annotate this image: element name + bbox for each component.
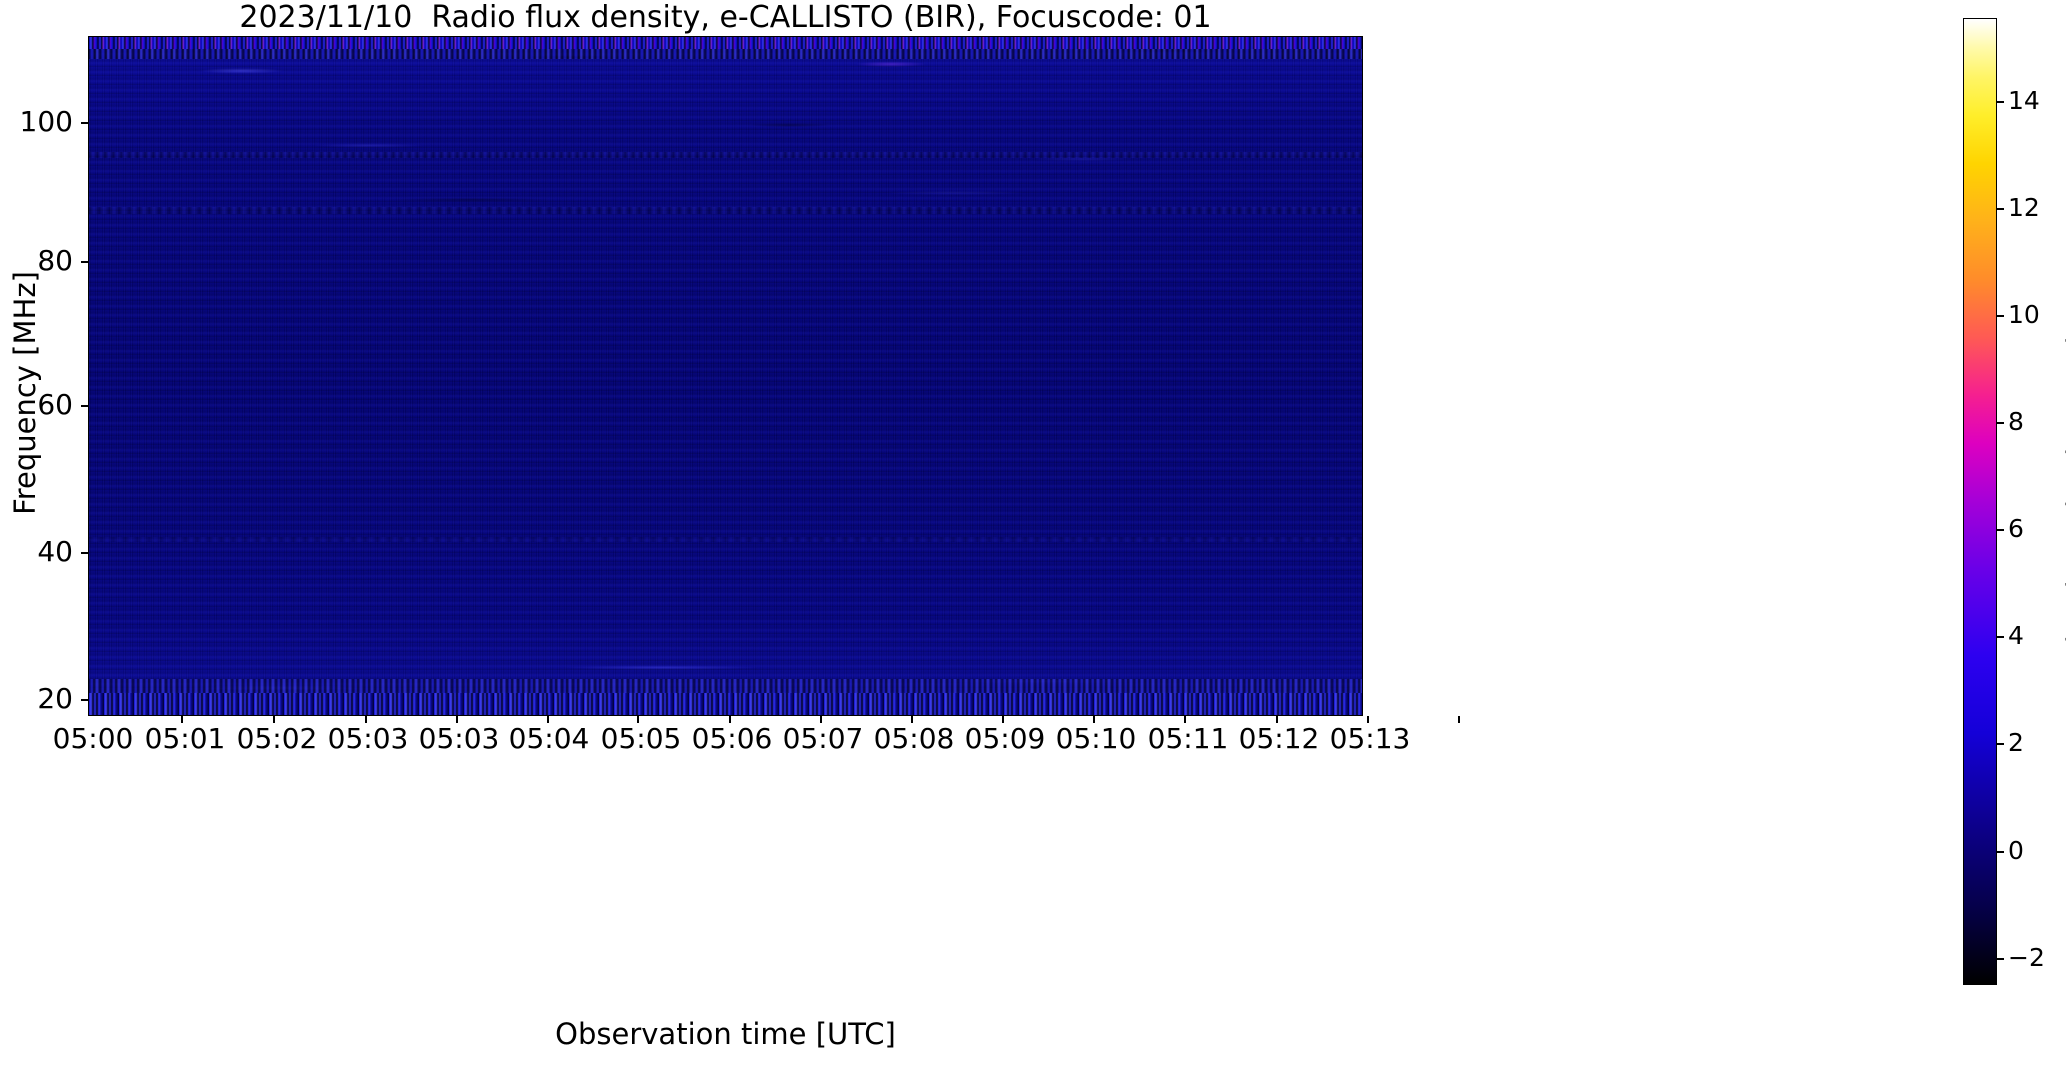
colorbar-tick-label: 14 [2008, 86, 2040, 115]
colorbar-label: dB above background [2061, 325, 2066, 665]
colorbar-tick-label: 2 [2008, 728, 2024, 757]
colorbar-tick-label: 0 [2008, 836, 2024, 865]
x-tick-label: 05:12 [1239, 722, 1320, 755]
x-tick-label: 05:06 [692, 722, 773, 755]
spectrogram-band-55mhz [89, 537, 1362, 542]
spectrogram-plot-area [88, 36, 1363, 716]
x-tick-label: 05:10 [1056, 722, 1137, 755]
colorbar-tick-mark [1997, 101, 2004, 103]
y-tick-label: 100 [0, 105, 73, 138]
colorbar-tick-mark [1997, 529, 2004, 531]
colorbar-tick-label: −2 [2008, 943, 2045, 972]
y-tick-mark [81, 699, 88, 701]
x-tick-label: 05:03 [328, 722, 409, 755]
x-tick-label: 05:09 [965, 722, 1046, 755]
y-tick-label: 40 [0, 535, 73, 568]
y-tick-mark [81, 405, 88, 407]
spectrogram-band-90mhz [89, 152, 1362, 158]
x-tick-label: 05:11 [1148, 722, 1229, 755]
colorbar-tick-mark [1997, 636, 2004, 638]
colorbar-tick-mark [1997, 208, 2004, 210]
x-tick-label: 05:02 [237, 722, 318, 755]
colorbar-tick-mark [1997, 422, 2004, 424]
colorbar-tick-label: 8 [2008, 407, 2024, 436]
spectrogram-band-102mhz [89, 49, 1362, 59]
x-tick-label: 05:08 [874, 722, 955, 755]
colorbar-tick-label: 10 [2008, 300, 2040, 329]
y-tick-label: 20 [0, 682, 73, 715]
x-tick-label: 05:13 [1330, 722, 1411, 755]
page-title: 2023/11/10 Radio flux density, e-CALLIST… [88, 1, 1363, 35]
y-tick-mark [81, 552, 88, 554]
colorbar-tick-mark [1997, 315, 2004, 317]
spectrogram-band-18mhz [89, 679, 1362, 693]
colorbar-tick-mark [1997, 743, 2004, 745]
y-tick-mark [81, 261, 88, 263]
y-tick-mark [81, 122, 88, 124]
spectrogram-band-105mhz [89, 37, 1362, 49]
x-tick-label: 05:03 [419, 722, 500, 755]
y-tick-label: 60 [0, 388, 73, 421]
spectrogram-speckle [89, 37, 1362, 715]
spectrogram-band-15mhz [89, 693, 1362, 715]
colorbar-tick-mark [1997, 851, 2004, 853]
spectrogram-figure: 2023/11/10 Radio flux density, e-CALLIST… [0, 0, 2066, 1067]
colorbar-gradient [1963, 18, 1997, 985]
x-tick-label: 05:07 [783, 722, 864, 755]
colorbar-tick-label: 4 [2008, 621, 2024, 650]
y-tick-label: 80 [0, 244, 73, 277]
x-tick-label: 05:00 [53, 722, 134, 755]
colorbar-tick-label: 12 [2008, 193, 2040, 222]
colorbar-tick-label: 6 [2008, 514, 2024, 543]
x-axis-label: Observation time [UTC] [88, 1017, 1363, 1051]
colorbar-tick-mark [1997, 958, 2004, 960]
x-tick-label: 05:05 [601, 722, 682, 755]
x-tick-mark [1458, 716, 1460, 723]
x-tick-label: 05:04 [509, 722, 590, 755]
x-tick-label: 05:01 [145, 722, 226, 755]
spectrogram-band-85mhz [89, 207, 1362, 214]
